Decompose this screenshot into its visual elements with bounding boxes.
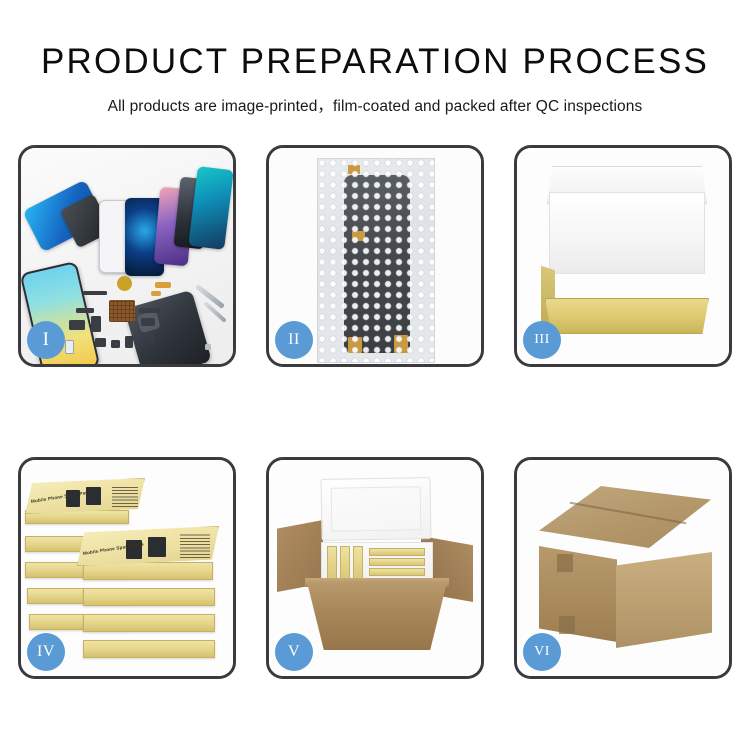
step-badge-4: IV (27, 633, 65, 671)
carton-body-icon (307, 582, 447, 650)
stacked-box-r3 (83, 614, 215, 632)
process-panel-4[interactable]: Mobile Phone Spare Parts Mobile Phone Sp… (18, 457, 236, 679)
foam-lid-icon (320, 477, 431, 541)
earpiece-part-icon (83, 291, 107, 295)
process-panel-5[interactable]: V (266, 457, 484, 679)
kraft-box-front-icon (545, 298, 709, 334)
antenna-part-icon (139, 308, 161, 313)
box-label-upper-left: Mobile Phone Spare Parts (31, 489, 93, 504)
header: PRODUCT PREPARATION PROCESS All products… (0, 0, 750, 116)
step-badge-3: III (523, 321, 561, 359)
step-badge-6: VI (523, 633, 561, 671)
flex-cable-small-icon (151, 291, 161, 296)
stacked-box-r2 (83, 588, 215, 606)
white-foam-insert-icon (549, 192, 705, 274)
bubble-texture (318, 159, 434, 362)
step-badge-5: V (275, 633, 313, 671)
inner-box-4 (369, 548, 425, 556)
flex-cable-icon (155, 282, 171, 288)
screw-tray-icon (109, 300, 135, 322)
process-panel-2[interactable]: II (266, 145, 484, 367)
step-badge-1: I (27, 321, 65, 359)
screw-icon (147, 334, 154, 341)
process-panel-grid: I II III (18, 145, 732, 679)
inner-box-1 (327, 546, 337, 582)
inner-box-3 (353, 546, 363, 582)
process-panel-3[interactable]: III (514, 145, 732, 367)
box-lid-upper-left: Mobile Phone Spare Parts (25, 478, 145, 514)
connector-part-icon (69, 320, 85, 330)
step-badge-2: II (275, 321, 313, 359)
box-lid-lower-right: Mobile Phone Spare Parts (77, 526, 219, 566)
vibrator-part-icon (95, 338, 106, 347)
page-subtitle: All products are image-printed，film-coat… (0, 94, 750, 116)
chip-part-icon (141, 318, 155, 326)
stacked-box-r4 (83, 640, 215, 658)
inner-box-5 (369, 558, 425, 566)
inner-box-6 (369, 568, 425, 576)
camera-module-icon (91, 316, 101, 332)
carton-right-face-icon (616, 552, 712, 648)
lid-spec-text-block-2 (180, 534, 210, 558)
bracket-part-icon (76, 308, 94, 313)
bubble-wrapped-item-icon (551, 272, 703, 302)
carton-left-face-icon (539, 546, 617, 642)
screw-small-icon (205, 344, 211, 350)
lid-product-image-d (148, 537, 166, 557)
process-panel-6[interactable]: VI (514, 457, 732, 679)
inner-box-2 (340, 546, 350, 582)
process-panel-1[interactable]: I (18, 145, 236, 367)
lid-spec-text-block (112, 485, 138, 507)
sim-tray-icon (125, 336, 133, 348)
small-screen-part-icon (65, 340, 74, 354)
bubble-wrap-bag-icon (317, 158, 435, 363)
packing-tape-lower-icon (559, 616, 575, 634)
packing-tape-upper-icon (557, 554, 573, 572)
page-title: PRODUCT PREPARATION PROCESS (0, 42, 750, 82)
speaker-part-icon (117, 276, 132, 291)
button-part-icon (111, 340, 120, 348)
